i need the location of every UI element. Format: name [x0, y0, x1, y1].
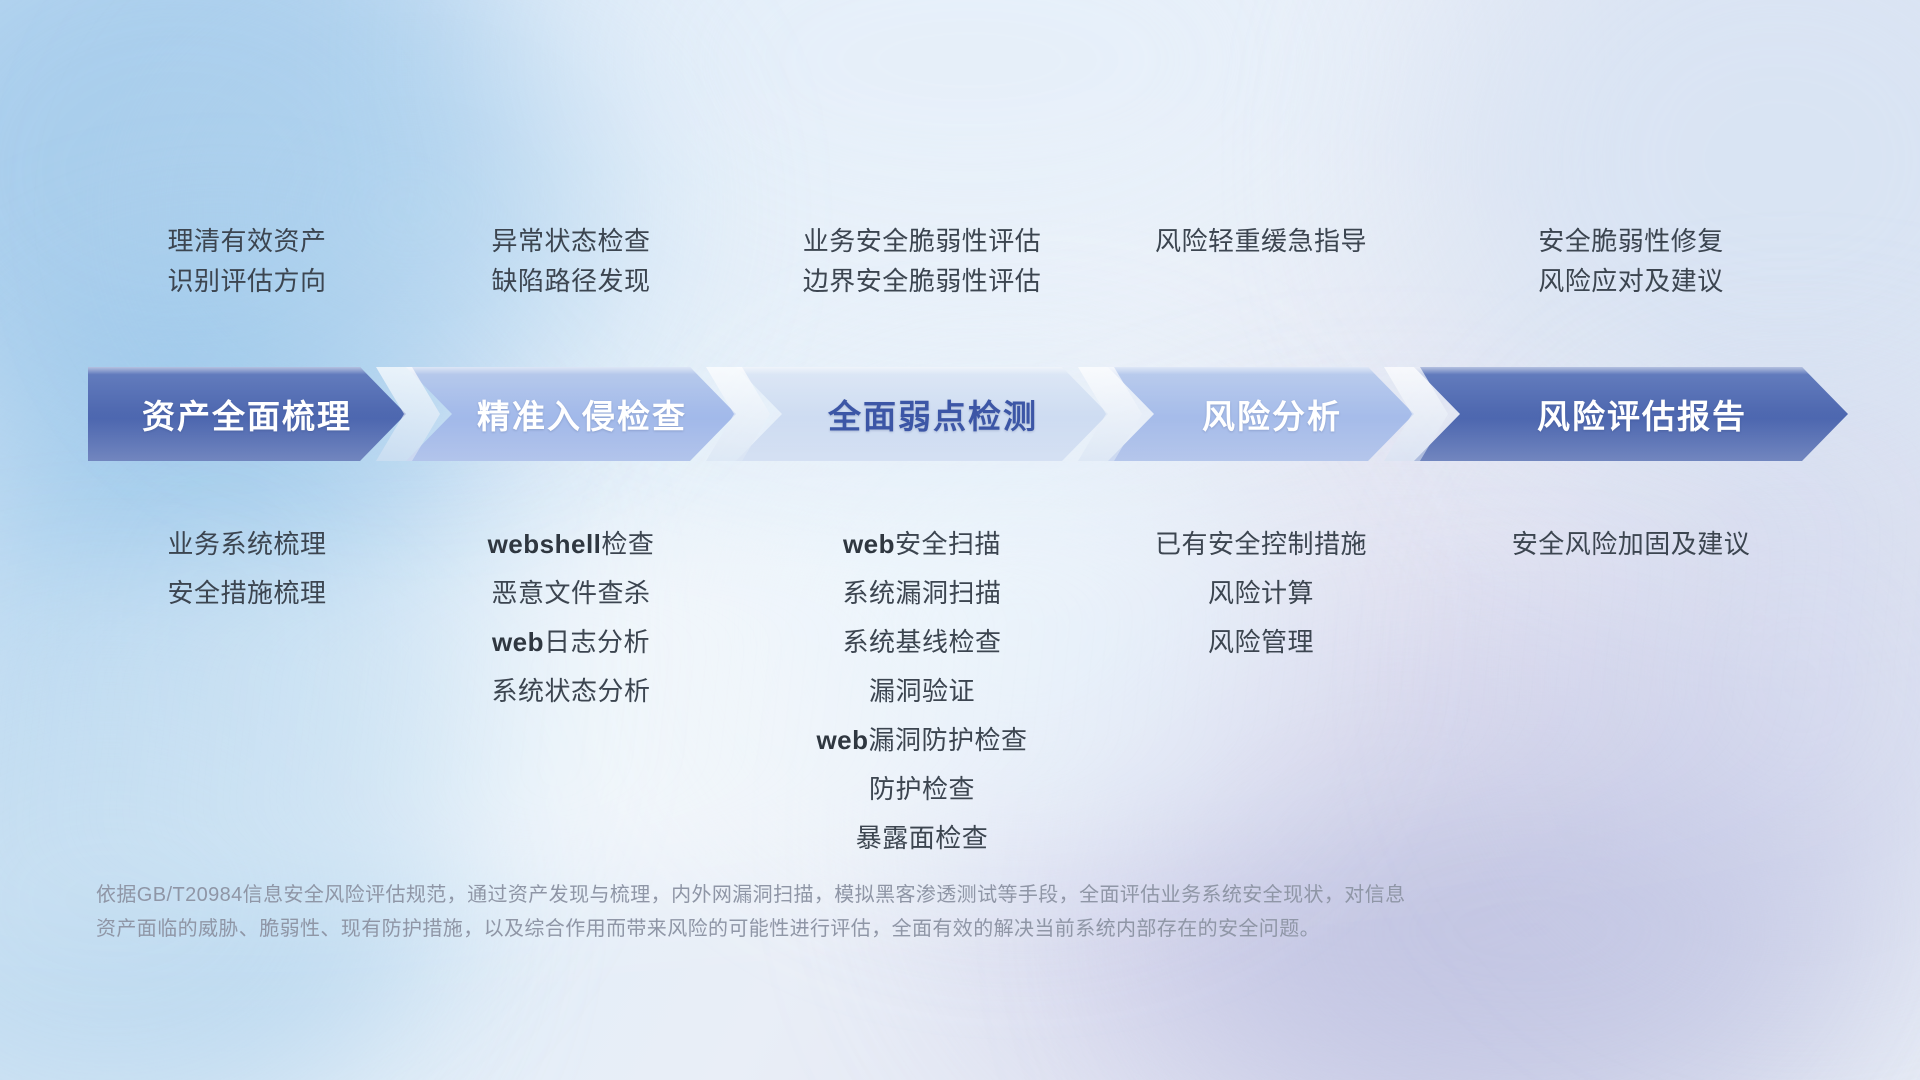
- stage-top-item: 识别评估方向: [167, 268, 326, 294]
- chevron-stage-risk-analysis[interactable]: 风险分析: [1108, 367, 1414, 461]
- stage-bottom-item: web安全扫描: [843, 520, 1001, 569]
- chevron-band: 资产全面梳理精准入侵检查全面弱点检测风险分析风险评估报告: [88, 367, 1848, 461]
- stage-bottom-list-risk-analysis: 已有安全控制措施风险计算风险管理: [1155, 520, 1367, 667]
- chevron-label-weakness-detection: 全面弱点检测: [806, 390, 1038, 438]
- stage-bottom-item: 漏洞验证: [869, 667, 975, 716]
- stage-bottom-item: 系统漏洞扫描: [842, 569, 1001, 618]
- footer-line-1: 依据GB/T20984信息安全风险评估规范，通过资产发现与梳理，内外网漏洞扫描，…: [96, 878, 1656, 912]
- footer-description: 依据GB/T20984信息安全风险评估规范，通过资产发现与梳理，内外网漏洞扫描，…: [96, 878, 1656, 946]
- stage-top-list-risk-report: 安全脆弱性修复风险应对及建议: [1538, 228, 1724, 294]
- stage-top-item: 异常状态检查: [491, 228, 650, 254]
- stage-bottom-list-intrusion-check: webshell检查恶意文件查杀web日志分析系统状态分析: [488, 520, 655, 716]
- chevron-label-intrusion-check: 精准入侵检查: [455, 390, 687, 438]
- stage-top-list-asset-inventory: 理清有效资产识别评估方向: [167, 228, 326, 294]
- stage-bottom-item: 业务系统梳理: [167, 520, 326, 569]
- stage-bottom-item: 防护检查: [869, 765, 975, 814]
- footer-line-2: 资产面临的威胁、脆弱性、现有防护措施，以及综合作用而带来风险的可能性进行评估，全…: [96, 912, 1656, 946]
- stage-bottom-item: 系统状态分析: [491, 667, 650, 716]
- stage-top-labels-row: 理清有效资产识别评估方向异常状态检查缺陷路径发现业务安全脆弱性评估边界安全脆弱性…: [0, 228, 1920, 328]
- stage-bottom-item: web漏洞防护检查: [816, 716, 1027, 765]
- stage-top-item: 风险轻重缓急指导: [1155, 228, 1367, 254]
- stage-bottom-item: 安全措施梳理: [167, 569, 326, 618]
- stage-bottom-list-risk-report: 安全风险加固及建议: [1512, 520, 1751, 569]
- chevron-stage-risk-report[interactable]: 风险评估报告: [1414, 367, 1848, 461]
- chevron-stage-asset-inventory[interactable]: 资产全面梳理: [88, 367, 406, 461]
- chevron-stage-weakness-detection[interactable]: 全面弱点检测: [736, 367, 1108, 461]
- stage-bottom-item: web日志分析: [492, 618, 650, 667]
- stage-top-item: 安全脆弱性修复: [1538, 228, 1724, 254]
- stage-top-list-weakness-detection: 业务安全脆弱性评估边界安全脆弱性评估: [803, 228, 1042, 294]
- stage-bottom-item: 安全风险加固及建议: [1512, 520, 1751, 569]
- stage-bottom-lists-row: 业务系统梳理安全措施梳理webshell检查恶意文件查杀web日志分析系统状态分…: [0, 520, 1920, 820]
- stage-top-item: 理清有效资产: [167, 228, 326, 254]
- chevron-stage-intrusion-check[interactable]: 精准入侵检查: [406, 367, 736, 461]
- stage-bottom-list-asset-inventory: 业务系统梳理安全措施梳理: [167, 520, 326, 618]
- stage-top-item: 业务安全脆弱性评估: [803, 228, 1042, 254]
- stage-top-list-risk-analysis: 风险轻重缓急指导: [1155, 228, 1367, 254]
- stage-top-list-intrusion-check: 异常状态检查缺陷路径发现: [491, 228, 650, 294]
- stage-top-item: 风险应对及建议: [1538, 268, 1724, 294]
- stage-top-item: 缺陷路径发现: [491, 268, 650, 294]
- stage-bottom-item: 暴露面检查: [856, 814, 989, 863]
- stage-bottom-item: 已有安全控制措施: [1155, 520, 1367, 569]
- stage-bottom-item: 恶意文件查杀: [491, 569, 650, 618]
- chevron-label-risk-report: 风险评估报告: [1515, 390, 1747, 438]
- stage-top-item: 边界安全脆弱性评估: [803, 268, 1042, 294]
- chevron-label-asset-inventory: 资产全面梳理: [142, 390, 352, 438]
- stage-bottom-item: webshell检查: [488, 520, 655, 569]
- stage-bottom-item: 风险管理: [1208, 618, 1314, 667]
- stage-bottom-item: 风险计算: [1208, 569, 1314, 618]
- stage-bottom-item: 系统基线检查: [842, 618, 1001, 667]
- process-diagram: 理清有效资产识别评估方向异常状态检查缺陷路径发现业务安全脆弱性评估边界安全脆弱性…: [0, 0, 1920, 1080]
- chevron-label-risk-analysis: 风险分析: [1180, 390, 1342, 438]
- stage-bottom-list-weakness-detection: web安全扫描系统漏洞扫描系统基线检查漏洞验证web漏洞防护检查防护检查暴露面检…: [816, 520, 1027, 863]
